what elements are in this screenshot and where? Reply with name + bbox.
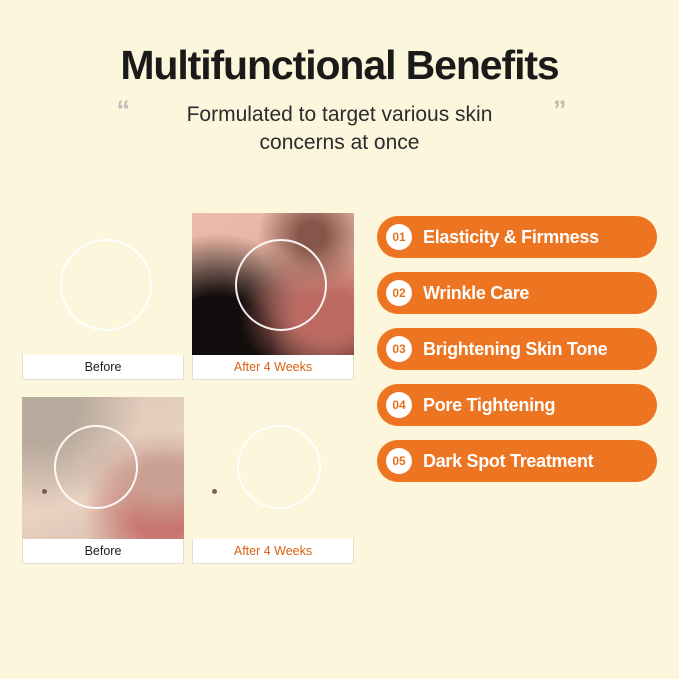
comparison-1-after: After 4 Weeks	[192, 213, 354, 380]
quote-close-icon: ”	[553, 97, 567, 124]
benefit-item-1[interactable]: 01 Elasticity & Firmness	[377, 216, 657, 258]
header: Multifunctional Benefits “ Formulated to…	[0, 0, 679, 156]
subtitle-line-1: Formulated to target various skin	[187, 103, 493, 126]
benefit-number-badge: 04	[386, 392, 412, 418]
before-photo-2	[22, 397, 184, 539]
skin-mark	[42, 489, 47, 494]
after-photo-1	[192, 213, 354, 355]
subtitle-block: “ Formulated to target various skin conc…	[125, 101, 555, 156]
benefit-number-badge: 05	[386, 448, 412, 474]
highlight-circle	[237, 425, 321, 509]
benefit-label: Elasticity & Firmness	[423, 227, 599, 248]
highlight-circle	[54, 425, 138, 509]
comparison-2-after: After 4 Weeks	[192, 397, 354, 564]
benefit-item-4[interactable]: 04 Pore Tightening	[377, 384, 657, 426]
page-title: Multifunctional Benefits	[0, 44, 679, 87]
benefit-item-5[interactable]: 05 Dark Spot Treatment	[377, 440, 657, 482]
benefit-label: Wrinkle Care	[423, 283, 529, 304]
benefit-label: Dark Spot Treatment	[423, 451, 593, 472]
quote-open-icon: “	[117, 97, 131, 124]
comparison-row-2: Before After 4 Weeks	[22, 397, 354, 564]
subtitle: Formulated to target various skin concer…	[125, 101, 555, 156]
comparison-1-before: Before	[22, 213, 184, 380]
caption-before: Before	[22, 355, 184, 380]
infographic-page: Multifunctional Benefits “ Formulated to…	[0, 0, 679, 679]
subtitle-line-2: concerns at once	[260, 131, 420, 154]
comparison-2-before: Before	[22, 397, 184, 564]
caption-before: Before	[22, 539, 184, 564]
benefit-label: Pore Tightening	[423, 395, 555, 416]
highlight-circle	[60, 239, 152, 331]
benefit-label: Brightening Skin Tone	[423, 339, 607, 360]
benefit-item-3[interactable]: 03 Brightening Skin Tone	[377, 328, 657, 370]
benefit-number-badge: 02	[386, 280, 412, 306]
before-after-grid: Before After 4 Weeks Before	[22, 213, 354, 581]
benefits-list: 01 Elasticity & Firmness 02 Wrinkle Care…	[377, 216, 657, 496]
after-photo-2	[192, 397, 354, 539]
highlight-circle	[235, 239, 327, 331]
before-photo-1	[22, 213, 184, 355]
benefit-number-badge: 03	[386, 336, 412, 362]
benefit-item-2[interactable]: 02 Wrinkle Care	[377, 272, 657, 314]
benefit-number-badge: 01	[386, 224, 412, 250]
caption-after: After 4 Weeks	[192, 355, 354, 380]
caption-after: After 4 Weeks	[192, 539, 354, 564]
comparison-row-1: Before After 4 Weeks	[22, 213, 354, 380]
skin-mark	[212, 489, 217, 494]
